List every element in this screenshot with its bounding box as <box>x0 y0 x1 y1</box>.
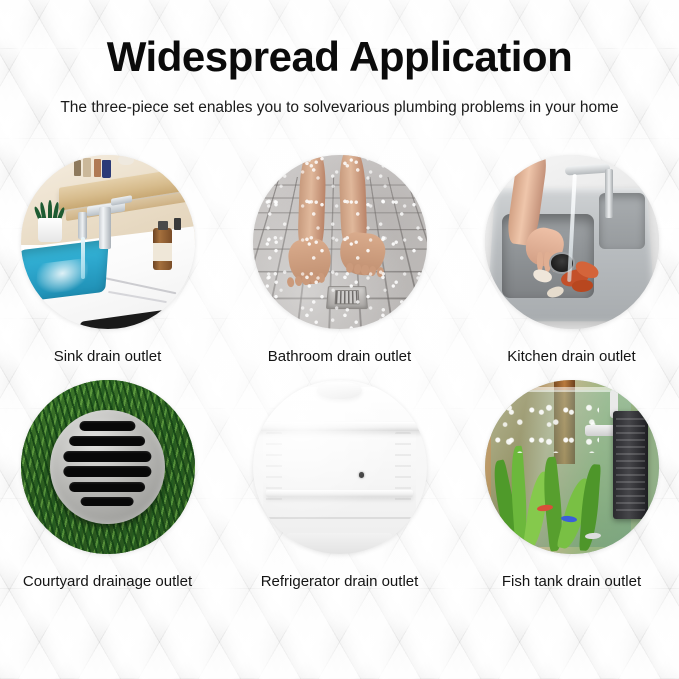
faucet-body <box>99 207 111 249</box>
shelf-bottle-icon <box>102 160 111 177</box>
soap-dispenser-bottle <box>153 228 172 270</box>
grate-slot <box>70 436 146 446</box>
shelf-bottle-icon <box>74 160 81 176</box>
gallery-item-caption: Refrigerator drain outlet <box>261 572 419 591</box>
refrigerator-interior-drain-photo <box>253 380 427 554</box>
kitchen-scene <box>485 155 659 329</box>
bathroom-sink-faucet-photo <box>21 155 195 329</box>
bathroom-scene <box>253 155 427 329</box>
gallery-item-caption: Kitchen drain outlet <box>507 347 635 366</box>
soap-pump-head <box>174 218 181 230</box>
gallery-item-caption: Sink drain outlet <box>54 347 162 366</box>
filter-vent-slots <box>616 418 645 513</box>
gallery-item-caption: Bathroom drain outlet <box>268 347 411 366</box>
gallery-item-refrigerator: Refrigerator drain outlet <box>236 380 444 591</box>
gallery-item-bathroom: Bathroom drain outlet <box>236 155 444 366</box>
grate-slot <box>81 497 134 506</box>
soap-bottle-label <box>153 243 172 261</box>
shelf-bottle-icon <box>94 159 101 176</box>
aquarium-filter <box>613 411 648 519</box>
gallery-item-fishtank: Fish tank drain outlet <box>468 380 676 591</box>
water-stream <box>81 237 86 279</box>
page-title: Widespread Application <box>0 0 679 82</box>
kitchen-faucet-column <box>605 169 614 218</box>
grate-slot <box>70 482 146 492</box>
faucet-spout <box>78 212 87 238</box>
gallery-item-caption: Fish tank drain outlet <box>502 572 641 591</box>
gallery-row: Courtyard drainage outlet <box>0 380 679 591</box>
grate-slot <box>64 451 151 462</box>
header: Widespread Application The three-piece s… <box>0 0 679 118</box>
filter-outlet-nozzle <box>585 425 616 435</box>
shelf-bottle-icon <box>83 158 91 177</box>
gallery-item-caption: Courtyard drainage outlet <box>23 572 192 591</box>
water-bubbles <box>491 401 599 453</box>
refrigerator-scene <box>253 380 427 554</box>
courtyard-scene <box>21 380 195 554</box>
page-subtitle: The three-piece set enables you to solve… <box>0 82 679 118</box>
shelf-bowl-icon <box>118 155 134 165</box>
plant-pot <box>38 218 62 242</box>
sink-scene <box>21 155 195 329</box>
fridge-highlight <box>253 380 427 554</box>
application-gallery: Sink drain outlet <box>0 155 679 591</box>
shower-floor-feet-drain-photo <box>253 155 427 329</box>
gallery-item-courtyard: Courtyard drainage outlet <box>4 380 212 591</box>
water-spray-droplets <box>253 155 427 329</box>
grate-slot <box>64 466 151 477</box>
aquarium-scene <box>485 380 659 554</box>
aquarium-filter-plants-photo <box>485 380 659 554</box>
gallery-row: Sink drain outlet <box>0 155 679 366</box>
infographic-page: Widespread Application The three-piece s… <box>0 0 679 679</box>
round-drain-grate <box>50 410 165 525</box>
gallery-item-kitchen: Kitchen drain outlet <box>468 155 676 366</box>
gallery-item-sink: Sink drain outlet <box>4 155 212 366</box>
grate-slot <box>80 421 135 431</box>
soap-pump-neck <box>158 221 168 230</box>
kitchen-sink-hand-drain-photo <box>485 155 659 329</box>
grass-round-drain-grate-photo <box>21 380 195 554</box>
